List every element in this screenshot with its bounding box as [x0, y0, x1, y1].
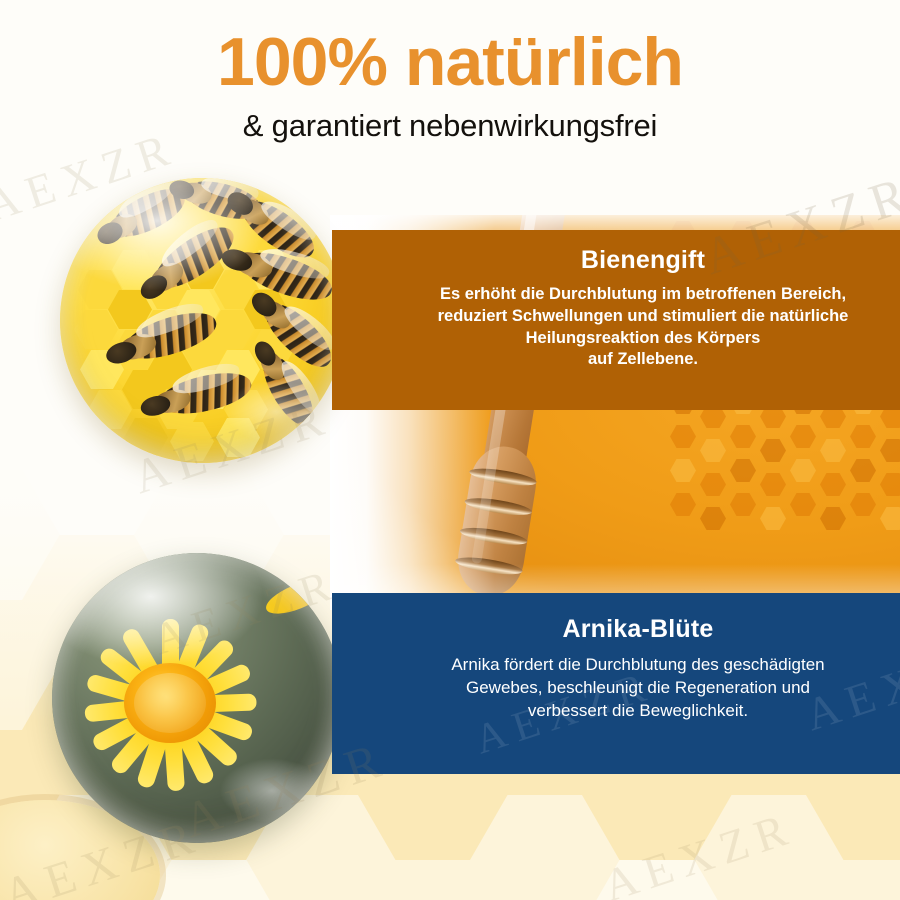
- card-bienengift: AEXZR Bienengift Es erhöht die Durchblut…: [332, 230, 900, 410]
- headline-sub: & garantiert nebenwirkungsfrei: [0, 108, 900, 144]
- card-line: Es erhöht die Durchblutung im betroffene…: [440, 285, 846, 303]
- card-text-bienengift: Es erhöht die Durchblutung im betroffene…: [412, 284, 874, 371]
- headline-main: 100% natürlich: [0, 28, 900, 96]
- arnica-sphere-image: [52, 553, 342, 843]
- card-line: verbessert die Beweglichkeit.: [528, 701, 748, 720]
- card-line: auf Zellebene.: [588, 350, 698, 368]
- watermark: AEXZR: [829, 392, 900, 410]
- product-infographic: 100% natürlich & garantiert nebenwirkung…: [0, 0, 900, 900]
- card-arnika-bluete: AEXZR AEXZR Arnika-Blüte Arnika fördert …: [332, 593, 900, 774]
- card-line: reduziert Schwellungen und stimuliert di…: [438, 307, 849, 325]
- card-line: Heilungsreaktion des Körpers: [526, 329, 761, 347]
- bee-sphere-image: [60, 178, 345, 463]
- card-title-bienengift: Bienengift: [412, 246, 874, 275]
- card-title-arnika: Arnika-Blüte: [402, 615, 874, 644]
- card-line: Arnika fördert die Durchblutung des gesc…: [451, 655, 824, 674]
- headline-block: 100% natürlich & garantiert nebenwirkung…: [0, 28, 900, 144]
- card-text-arnika: Arnika fördert die Durchblutung des gesc…: [402, 653, 874, 722]
- card-line: Gewebes, beschleunigt die Regeneration u…: [466, 678, 810, 697]
